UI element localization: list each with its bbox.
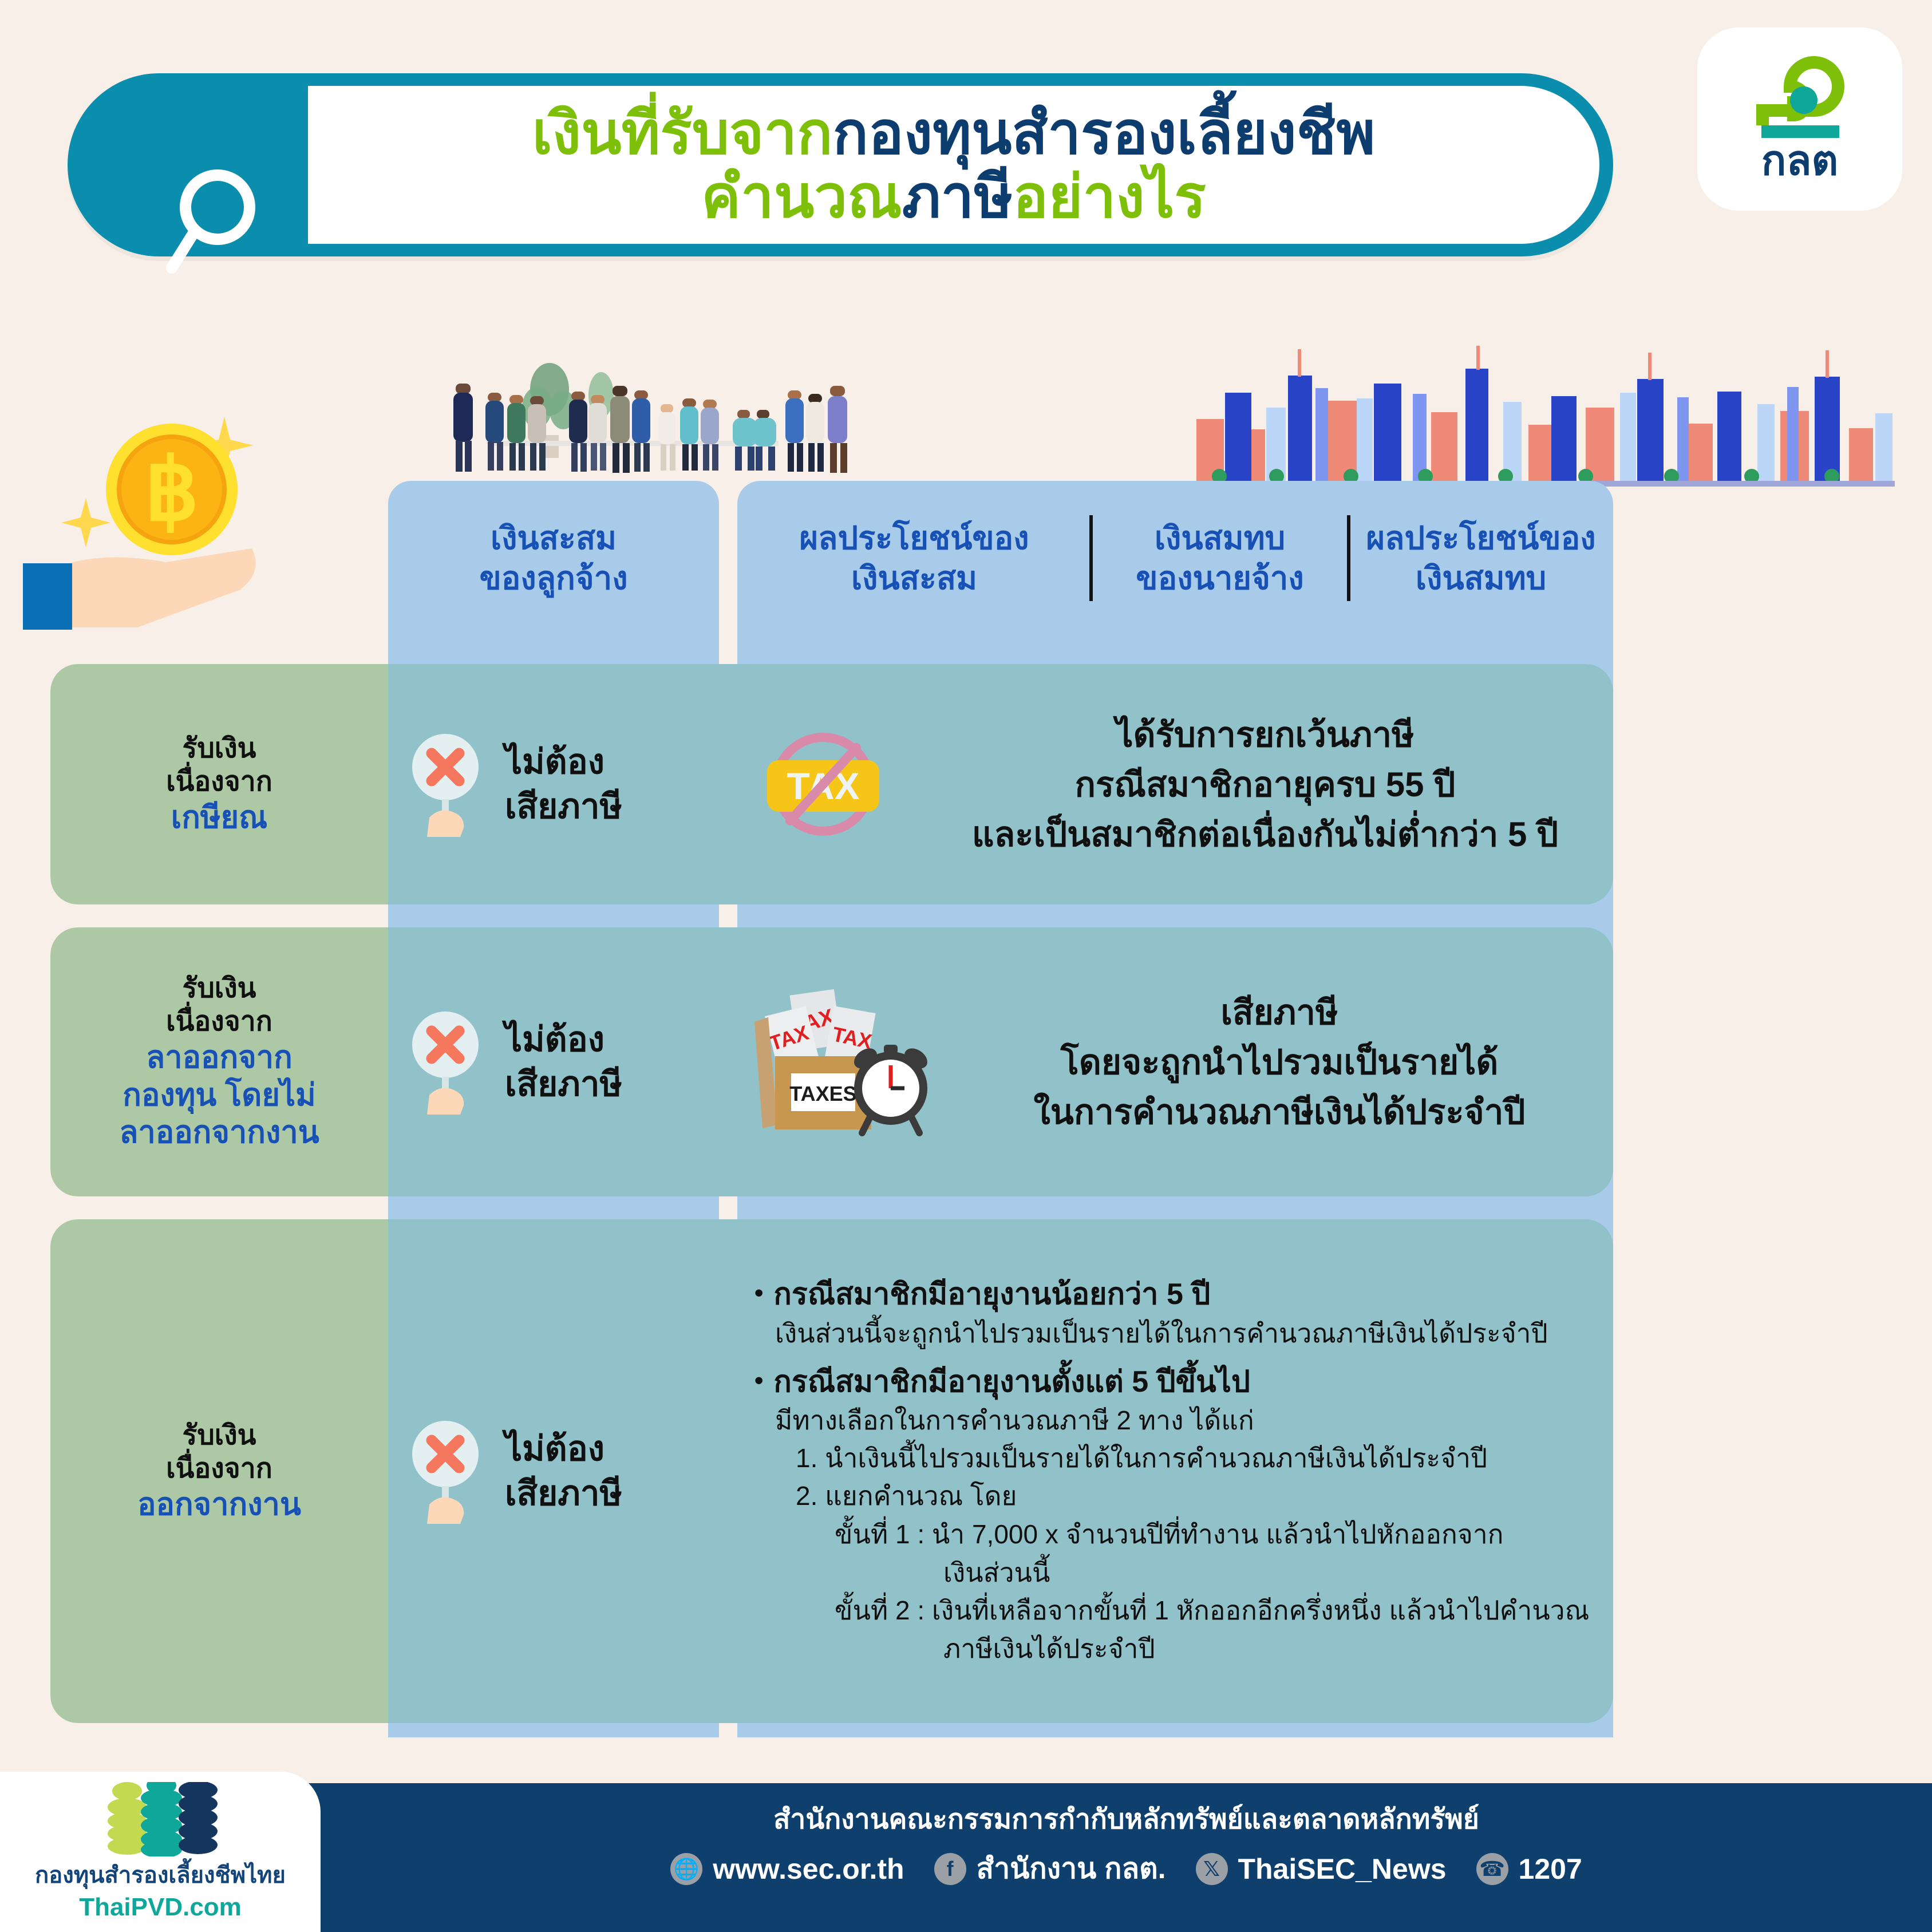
contact-website[interactable]: 🌐 www.sec.or.th	[670, 1852, 904, 1886]
column-header-contrib-employer: เงินสมทบ ของนายจ้าง	[1091, 481, 1349, 635]
contact-x-twitter[interactable]: 𝕏 ThaiSEC_News	[1196, 1852, 1447, 1886]
no-tax-icon: TAX	[743, 727, 903, 841]
contact-phone[interactable]: ☎ 1207	[1476, 1852, 1582, 1886]
cell-accum-employee-row3: ไม่ต้อง เสียภาษี	[388, 1219, 726, 1723]
column-header-accum-employee: เงินสะสม ของลูกจ้าง	[388, 481, 719, 635]
row-label-highlight: ออกจากงาน	[137, 1486, 301, 1524]
bullet-2-head: • กรณีสมาชิกมีอายุงานตั้งแต่ 5 ปีขึ้นไป	[754, 1362, 1589, 1402]
bullet-2-option-1: 1. นำเงินนี้ไปรวมเป็นรายได้ในการคำนวณภาษ…	[754, 1439, 1589, 1477]
contact-label: สำนักงาน กลต.	[977, 1846, 1166, 1891]
table-row: รับเงิน เนื่องจาก เกษียณ ไม่ต้อง เสียภาษ…	[50, 664, 1613, 904]
thaipvd-logo-url: ThaiPVD.com	[79, 1893, 242, 1922]
x-sign-icon	[404, 732, 490, 837]
cell-rest-row1: TAX ได้รับการยกเว้นภาษี กรณีสมาชิกอายุคร…	[726, 664, 1613, 904]
step-1-line2: เงินส่วนนี้	[754, 1554, 1589, 1592]
bullet-2-sub: มีทางเลือกในการคำนวณภาษี 2 ทาง ได้แก่	[754, 1402, 1589, 1439]
column-header-group: ผลประโยชน์ของ เงินสะสม เงินสมทบ ของนายจ้…	[737, 481, 1613, 635]
bullet-dot-icon: •	[754, 1362, 763, 1402]
step-2-line1: ขั้นที่ 2 : เงินที่เหลือจากขั้นที่ 1 หัก…	[754, 1591, 1589, 1630]
contact-facebook[interactable]: f สำนักงาน กลต.	[934, 1846, 1166, 1891]
bullet-2-option-2: 2. แยกคำนวณ โดย	[754, 1477, 1589, 1515]
column-header-label: เงินสมทบ ของนายจ้าง	[1136, 518, 1303, 598]
globe-icon: 🌐	[670, 1853, 702, 1885]
step-1-line1: ขั้นที่ 1 : นำ 7,000 x จำนวนปีที่ทำงาน แ…	[754, 1515, 1589, 1554]
row3-bullet-list: • กรณีสมาชิกมีอายุงานน้อยกว่า 5 ปี เงินส…	[754, 1274, 1589, 1668]
footer-organization-name: สำนักงานคณะกรรมการกำกับหลักทรัพย์และตลาด…	[321, 1797, 1932, 1841]
row1-detail-text: ได้รับการยกเว้นภาษี กรณีสมาชิกอายุครบ 55…	[917, 710, 1613, 859]
facebook-icon: f	[934, 1853, 966, 1885]
row-label-highlight: ลาออกจาก กองทุน โดยไม่ ลาออกจากงาน	[119, 1039, 319, 1152]
row-label-highlight: เกษียณ	[166, 799, 272, 837]
x-sign-icon	[404, 1419, 490, 1524]
cell-accum-employee-row2: ไม่ต้อง เสียภาษี	[388, 927, 726, 1196]
table-row: รับเงิน เนื่องจาก ออกจากงาน ไม่ต้อง เสีย…	[50, 1219, 1613, 1723]
table-row: รับเงิน เนื่องจาก ลาออกจาก กองทุน โดยไม่…	[50, 927, 1613, 1196]
column-header-benefit-contrib: ผลประโยชน์ของ เงินสมทบ	[1349, 481, 1613, 635]
row-label-leave-fund: รับเงิน เนื่องจาก ลาออกจาก กองทุน โดยไม่…	[50, 927, 388, 1196]
contact-label: 1207	[1519, 1852, 1582, 1886]
x-sign-icon	[404, 1009, 490, 1115]
contact-label: ThaiSEC_News	[1238, 1852, 1447, 1886]
bullet-dot-icon: •	[754, 1274, 763, 1314]
x-twitter-icon: 𝕏	[1196, 1853, 1228, 1885]
accum-status-text: ไม่ต้อง เสียภาษี	[505, 1017, 622, 1107]
step-2-line2: ภาษีเงินได้ประจำปี	[754, 1630, 1589, 1668]
row-label-top: รับเงิน เนื่องจาก	[137, 1419, 301, 1486]
tax-comparison-table: เงินสะสม ของลูกจ้าง ผลประโยชน์ของ เงินสะ…	[0, 0, 1932, 1932]
accum-status-text: ไม่ต้อง เสียภาษี	[505, 1427, 622, 1516]
cell-accum-employee-row1: ไม่ต้อง เสียภาษี	[388, 664, 726, 904]
column-header-benefit-accum: ผลประโยชน์ของ เงินสะสม	[737, 481, 1091, 635]
cell-rest-row3: • กรณีสมาชิกมีอายุงานน้อยกว่า 5 ปี เงินส…	[726, 1219, 1613, 1723]
contact-label: www.sec.or.th	[713, 1852, 904, 1886]
footer-contacts: 🌐 www.sec.or.th f สำนักงาน กลต. 𝕏 ThaiSE…	[321, 1846, 1932, 1891]
bullet-1-sub: เงินส่วนนี้จะถูกนำไปรวมเป็นรายได้ในการคำ…	[754, 1315, 1589, 1352]
row-label-retirement: รับเงิน เนื่องจาก เกษียณ	[50, 664, 388, 904]
cell-rest-row2: TAX TAX TAX TAXES เสียภาษี โดยจะถูกนำ	[726, 927, 1613, 1196]
phone-icon: ☎	[1476, 1853, 1508, 1885]
column-header-label: เงินสะสม ของลูกจ้าง	[479, 518, 627, 598]
row-label-leave-job: รับเงิน เนื่องจาก ออกจากงาน	[50, 1219, 388, 1723]
thaipvd-logo-name: กองทุนสำรองเลี้ยงชีพไทย	[35, 1856, 286, 1893]
svg-text:TAXES: TAXES	[789, 1082, 856, 1105]
accum-status-text: ไม่ต้อง เสียภาษี	[505, 740, 622, 829]
thaipvd-logo: กองทุนสำรองเลี้ยงชีพไทย ThaiPVD.com	[0, 1772, 321, 1932]
row-label-top: รับเงิน เนื่องจาก	[119, 972, 319, 1039]
bullet-1-head: • กรณีสมาชิกมีอายุงานน้อยกว่า 5 ปี	[754, 1274, 1589, 1314]
coin-stacks-icon	[92, 1782, 229, 1856]
column-header-label: ผลประโยชน์ของ เงินสะสม	[799, 518, 1029, 598]
row2-detail-text: เสียภาษี โดยจะถูกนำไปรวมเป็นรายได้ ในการ…	[946, 987, 1613, 1137]
column-header-label: ผลประโยชน์ของ เงินสมทบ	[1366, 518, 1595, 598]
tax-box-clock-icon: TAX TAX TAX TAXES	[743, 982, 932, 1142]
row-label-top: รับเงิน เนื่องจาก	[166, 732, 272, 799]
